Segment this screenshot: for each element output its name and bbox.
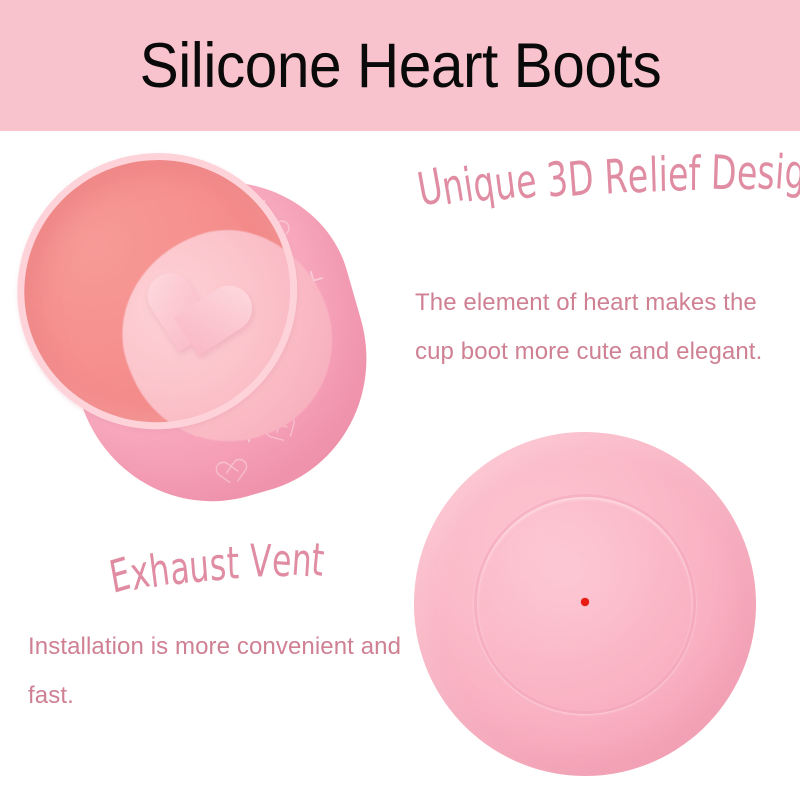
page-title: Silicone Heart Boots — [139, 35, 661, 98]
feature-heading-relief: Unique 3D Relief Design — [422, 164, 800, 211]
cup-boot-stage — [0, 94, 450, 565]
product-feature-image: Silicone Heart Boots — [0, 0, 800, 800]
header-banner: Silicone Heart Boots — [0, 0, 800, 131]
cup-boot-image — [30, 138, 405, 520]
feature-body-relief: The element of heart makes the cup boot … — [415, 278, 787, 376]
boot-underside-image — [414, 428, 764, 780]
feature-body-vent: Installation is more convenient and fast… — [28, 622, 428, 720]
feature-heading-vent: Exhaust Vent — [113, 553, 323, 598]
exhaust-vent-hole-icon — [581, 598, 589, 606]
heart-emboss-icon — [220, 459, 250, 487]
